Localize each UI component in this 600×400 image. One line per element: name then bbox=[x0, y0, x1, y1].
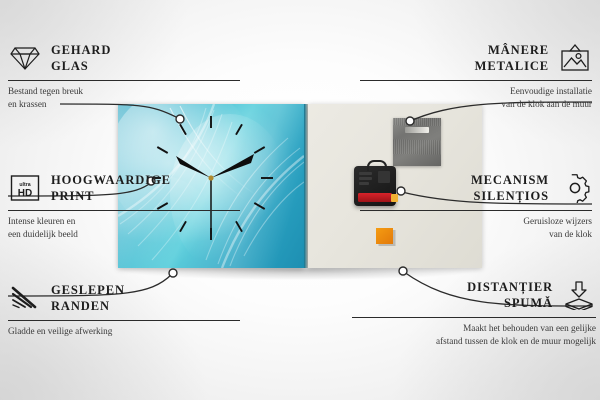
feature-mecanism-silentios[interactable]: MECANISMSILENȚIOS Geruisloze wijzersvan … bbox=[360, 168, 592, 242]
feature-rule bbox=[352, 317, 596, 318]
feature-header: MÂNEREMETALICE bbox=[360, 38, 592, 78]
diamond-icon bbox=[8, 41, 42, 75]
feature-description: Bestand tegen breuken krassen bbox=[8, 85, 240, 111]
picture-frame-icon bbox=[558, 41, 592, 75]
bevelled-edges-icon bbox=[8, 281, 42, 315]
feature-geslepen-randen[interactable]: GESLEPENRANDEN Gladde en veilige afwerki… bbox=[8, 278, 240, 338]
feature-hoogwaardige-print[interactable]: ultra HD HOOGWAARDIGEPRINT Intense kleur… bbox=[8, 168, 240, 242]
feature-header: GEHARDGLAS bbox=[8, 38, 240, 78]
feature-header: MECANISMSILENȚIOS bbox=[360, 168, 592, 208]
feature-description: Geruisloze wijzersvan de klok bbox=[360, 215, 592, 241]
feature-title: MECANISMSILENȚIOS bbox=[471, 172, 549, 204]
ultra-hd-icon: ultra HD bbox=[8, 171, 42, 205]
feature-rule bbox=[8, 80, 240, 81]
feature-title: MÂNEREMETALICE bbox=[475, 42, 549, 74]
feature-description: Gladde en veilige afwerking bbox=[8, 325, 240, 338]
feature-description: Maakt het behouden van een gelijkeafstan… bbox=[352, 322, 596, 348]
feature-header: ultra HD HOOGWAARDIGEPRINT bbox=[8, 168, 240, 208]
feature-title: HOOGWAARDIGEPRINT bbox=[51, 172, 171, 204]
feature-description: Intense kleuren eneen duidelijk beeld bbox=[8, 215, 240, 241]
gear-icon bbox=[558, 171, 592, 205]
feature-rule bbox=[8, 210, 240, 211]
metal-hanger-plate bbox=[393, 118, 441, 166]
feature-rule bbox=[8, 320, 240, 321]
feature-title: DISTANȚIERSPUMĂ bbox=[467, 279, 553, 311]
feature-gehard-glas[interactable]: GEHARDGLAS Bestand tegen breuken krassen bbox=[8, 38, 240, 112]
feature-rule bbox=[360, 80, 592, 81]
infographic-canvas: GEHARDGLAS Bestand tegen breuken krassen… bbox=[0, 0, 600, 400]
feature-title: GEHARDGLAS bbox=[51, 42, 111, 74]
foam-spacer-icon bbox=[562, 278, 596, 312]
feature-distantier-spuma[interactable]: DISTANȚIERSPUMĂ Maakt het behouden van e… bbox=[352, 275, 596, 349]
feature-description: Eenvoudige installatievan de klok aan de… bbox=[360, 85, 592, 111]
feature-manere-metalice[interactable]: MÂNEREMETALICE Eenvoudige installatievan… bbox=[360, 38, 592, 112]
svg-text:HD: HD bbox=[18, 188, 32, 199]
feature-title: GESLEPENRANDEN bbox=[51, 282, 125, 314]
feature-header: GESLEPENRANDEN bbox=[8, 278, 240, 318]
feature-header: DISTANȚIERSPUMĂ bbox=[352, 275, 596, 315]
feature-rule bbox=[360, 210, 592, 211]
